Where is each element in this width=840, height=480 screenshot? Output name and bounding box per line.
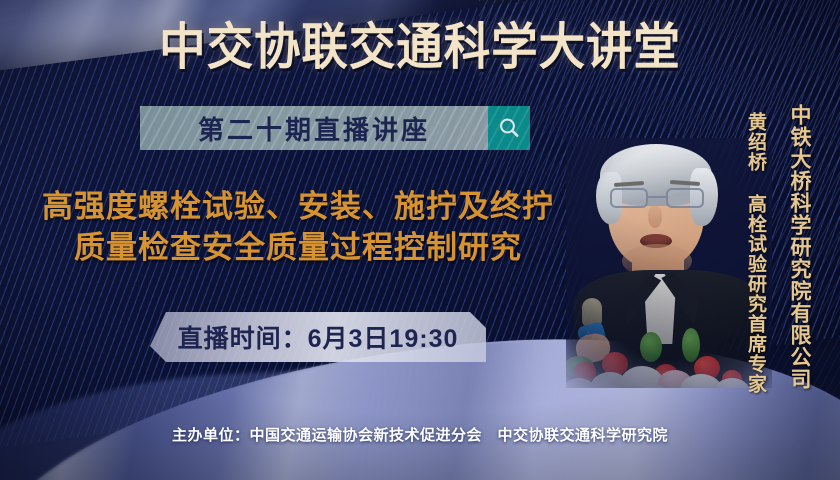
page-title: 中交协联交通科学大讲堂 <box>29 22 810 72</box>
speaker-name-role: 黄绍桥 高栓试验研究首席专家 <box>742 112 769 394</box>
speaker-organization: 中铁大桥科学研究院有限公司 <box>784 104 814 390</box>
broadcast-time-text: 直播时间：6月3日19:30 <box>178 319 459 355</box>
search-icon[interactable] <box>488 106 530 150</box>
session-label: 第二十期直播讲座 <box>198 110 430 147</box>
lecture-title-line-2: 质量检查安全质量过程控制研究 <box>8 227 588 268</box>
lecture-title: 高强度螺栓试验、安装、施拧及终拧 质量检查安全质量过程控制研究 <box>8 186 588 268</box>
session-bar-body: 第二十期直播讲座 <box>140 106 488 150</box>
organizer-footer: 主办单位：中国交通运输协会新技术促进分会 中交协联交通科学研究院 <box>0 424 840 445</box>
lecture-title-line-1: 高强度螺栓试验、安装、施拧及终拧 <box>8 186 588 227</box>
livestream-poster: 中交协联交通科学大讲堂 第二十期直播讲座 高强度螺栓试验、安装、施拧及终拧 质量… <box>0 0 840 480</box>
broadcast-time-badge: 直播时间：6月3日19:30 <box>150 312 486 362</box>
session-bar: 第二十期直播讲座 <box>140 106 530 150</box>
